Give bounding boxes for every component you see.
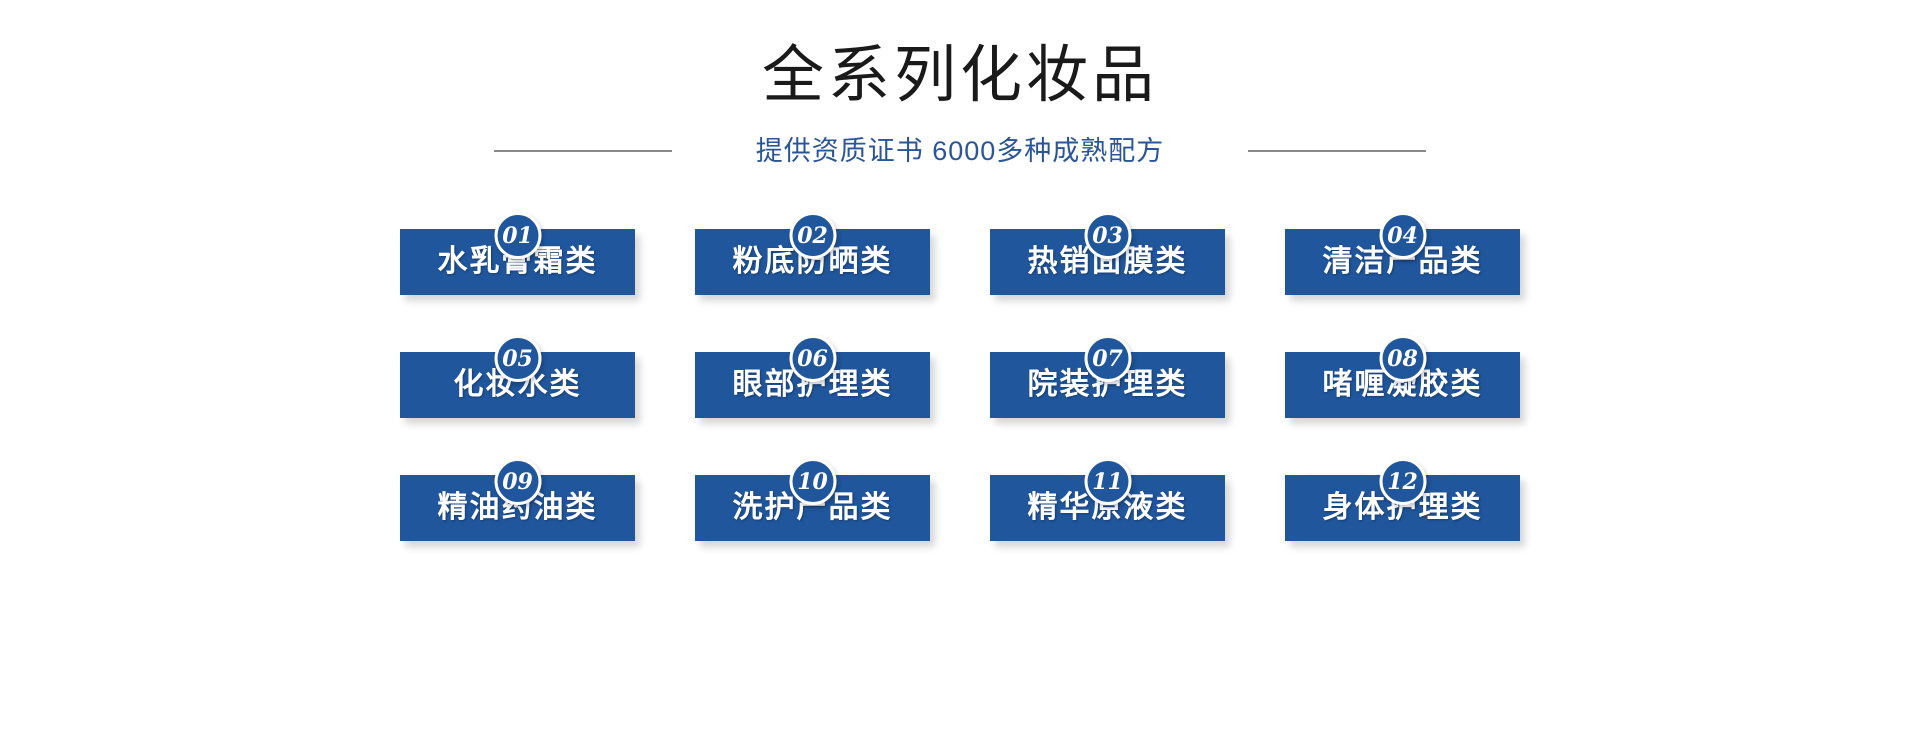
category-number-badge: 09 (494, 458, 541, 505)
page-title: 全系列化妆品 (0, 40, 1920, 112)
category-card[interactable]: 洗护产品类10 (695, 458, 930, 541)
category-number-badge-label: 11 (1092, 471, 1123, 493)
divider-line-left (494, 150, 672, 152)
category-number-badge-label: 08 (1387, 348, 1418, 370)
category-card[interactable]: 精油药油类09 (400, 458, 635, 541)
category-number-badge-label: 12 (1387, 471, 1418, 493)
category-number-badge-label: 09 (502, 471, 533, 493)
category-card[interactable]: 院装护理类07 (990, 335, 1225, 418)
category-number-badge: 11 (1084, 458, 1131, 505)
category-number-badge: 08 (1379, 335, 1426, 382)
divider-line-right (1248, 150, 1426, 152)
category-number-badge: 07 (1084, 335, 1131, 382)
category-card[interactable]: 热销面膜类03 (990, 212, 1225, 295)
category-card[interactable]: 粉底防晒类02 (695, 212, 930, 295)
category-number-badge-label: 04 (1387, 225, 1418, 247)
category-number-badge: 01 (494, 212, 541, 259)
category-number-badge-label: 03 (1092, 225, 1123, 247)
category-number-badge: 02 (789, 212, 836, 259)
category-card[interactable]: 精华原液类11 (990, 458, 1225, 541)
category-card[interactable]: 眼部护理类06 (695, 335, 930, 418)
category-grid: 水乳膏霜类01粉底防晒类02热销面膜类03清洁产品类04化妆水类05眼部护理类0… (400, 212, 1520, 541)
category-number-badge-label: 06 (797, 348, 828, 370)
category-number-badge-label: 10 (797, 471, 828, 493)
category-card[interactable]: 清洁产品类04 (1285, 212, 1520, 295)
category-number-badge-label: 05 (502, 348, 533, 370)
category-number-badge: 03 (1084, 212, 1131, 259)
product-category-page: 全系列化妆品 提供资质证书 6000多种成熟配方 水乳膏霜类01粉底防晒类02热… (0, 0, 1920, 750)
category-number-badge-label: 01 (502, 225, 533, 247)
category-number-badge: 10 (789, 458, 836, 505)
category-card[interactable]: 化妆水类05 (400, 335, 635, 418)
category-row: 水乳膏霜类01粉底防晒类02热销面膜类03清洁产品类04 (400, 212, 1520, 295)
page-header: 全系列化妆品 提供资质证书 6000多种成熟配方 (0, 0, 1920, 168)
category-card[interactable]: 啫喱凝胶类08 (1285, 335, 1520, 418)
page-subtitle: 提供资质证书 6000多种成熟配方 (756, 134, 1165, 168)
category-row: 化妆水类05眼部护理类06院装护理类07啫喱凝胶类08 (400, 335, 1520, 418)
category-number-badge: 12 (1379, 458, 1426, 505)
category-card[interactable]: 身体护理类12 (1285, 458, 1520, 541)
category-number-badge-label: 02 (797, 225, 828, 247)
category-card[interactable]: 水乳膏霜类01 (400, 212, 635, 295)
category-number-badge: 05 (494, 335, 541, 382)
category-row: 精油药油类09洗护产品类10精华原液类11身体护理类12 (400, 458, 1520, 541)
category-number-badge-label: 07 (1092, 348, 1123, 370)
category-number-badge: 04 (1379, 212, 1426, 259)
category-number-badge: 06 (789, 335, 836, 382)
subtitle-row: 提供资质证书 6000多种成熟配方 (0, 134, 1920, 168)
